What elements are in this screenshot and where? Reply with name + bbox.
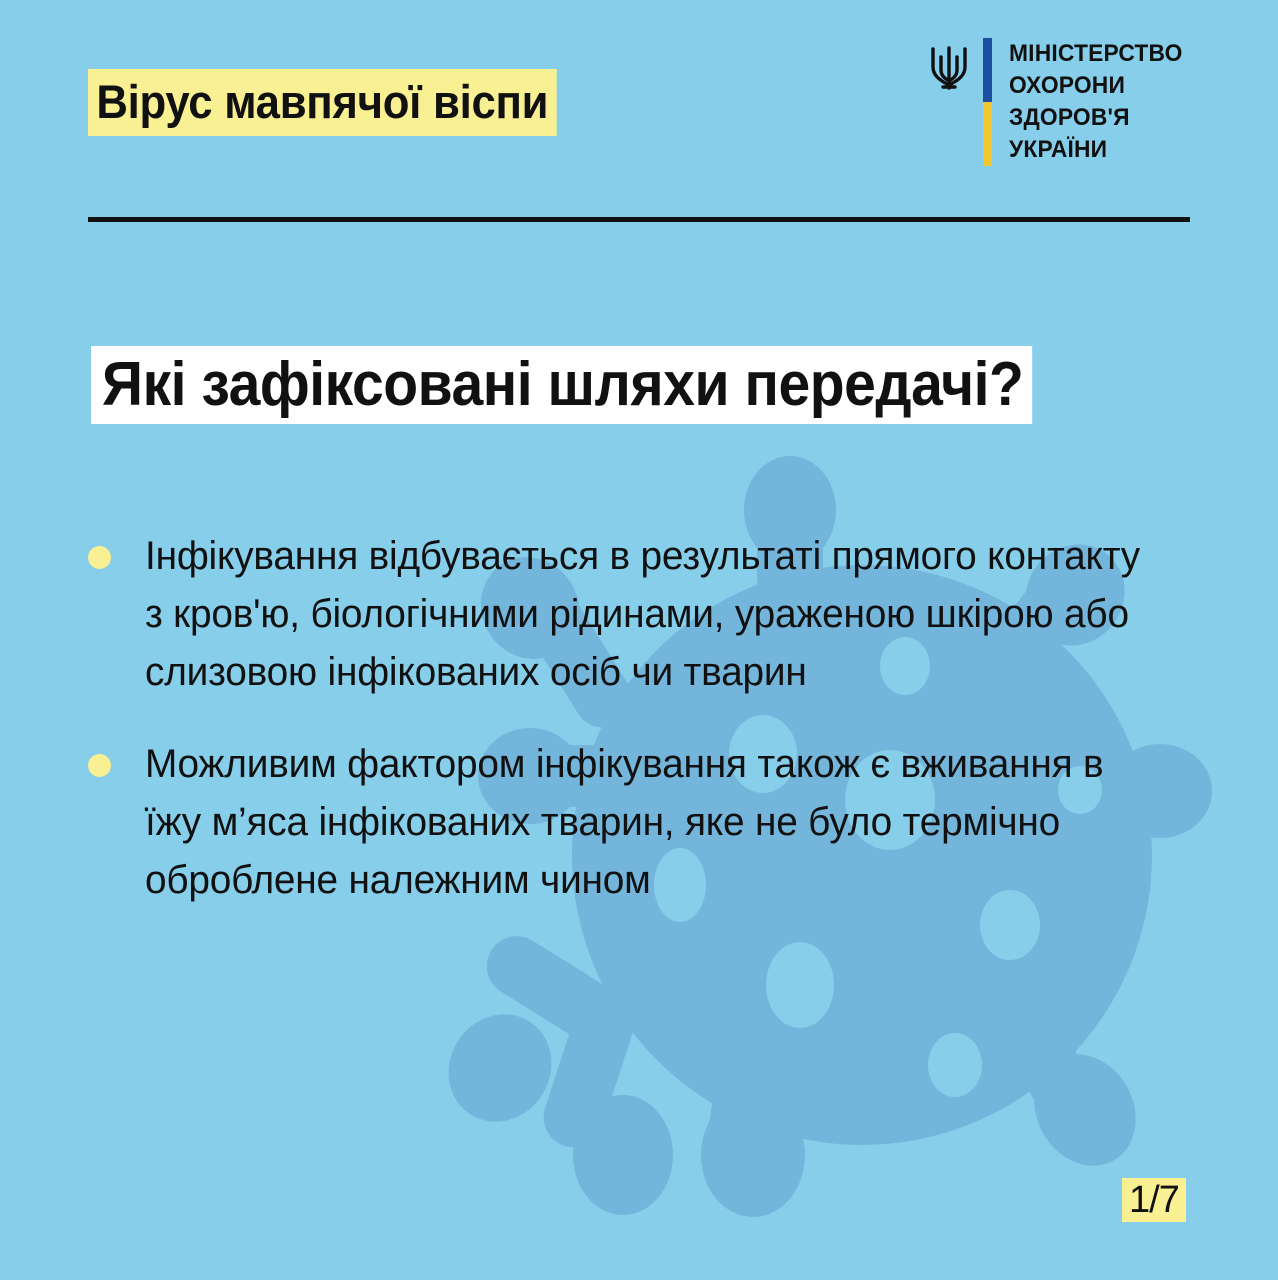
ministry-logo-text: МІНІСТЕРСТВО ОХОРОНИ ЗДОРОВ'Я УКРАЇНИ bbox=[1009, 38, 1192, 166]
list-item: Інфікування відбувається в результаті пр… bbox=[88, 527, 1188, 701]
transmission-routes-list: Інфікування відбувається в результаті пр… bbox=[88, 527, 1188, 943]
page-counter-badge: 1/7 bbox=[1122, 1178, 1186, 1222]
ministry-logo: МІНІСТЕРСТВО ОХОРОНИ ЗДОРОВ'Я УКРАЇНИ bbox=[927, 38, 1192, 173]
infographic-slide: Вірус мавпячої віспи МІНІСТЕРСТВО ОХОРОН… bbox=[0, 0, 1278, 1280]
header-divider-rule bbox=[88, 217, 1190, 222]
page-title: Вірус мавпячої віспи bbox=[88, 69, 557, 136]
title-container: Вірус мавпячої віспи bbox=[88, 69, 592, 136]
bullet-dot-icon bbox=[88, 546, 111, 569]
ukraine-trident-icon bbox=[927, 42, 971, 94]
list-item-text: Можливим фактором інфікування також є вж… bbox=[145, 735, 1144, 909]
logo-line-3: ЗДОРОВ'Я bbox=[1009, 102, 1183, 134]
question-heading-container: Які зафіксовані шляхи передачі? bbox=[91, 346, 1114, 424]
slide-header: Вірус мавпячої віспи МІНІСТЕРСТВО ОХОРОН… bbox=[0, 0, 1278, 200]
list-item-text: Інфікування відбувається в результаті пр… bbox=[145, 527, 1144, 701]
logo-line-4: УКРАЇНИ bbox=[1009, 134, 1183, 166]
list-item: Можливим фактором інфікування також є вж… bbox=[88, 735, 1188, 909]
logo-line-1: МІНІСТЕРСТВО bbox=[1009, 38, 1183, 70]
logo-flag-divider bbox=[983, 38, 992, 166]
logo-line-2: ОХОРОНИ bbox=[1009, 70, 1183, 102]
bullet-dot-icon bbox=[88, 754, 111, 777]
question-heading: Які зафіксовані шляхи передачі? bbox=[91, 346, 1033, 424]
